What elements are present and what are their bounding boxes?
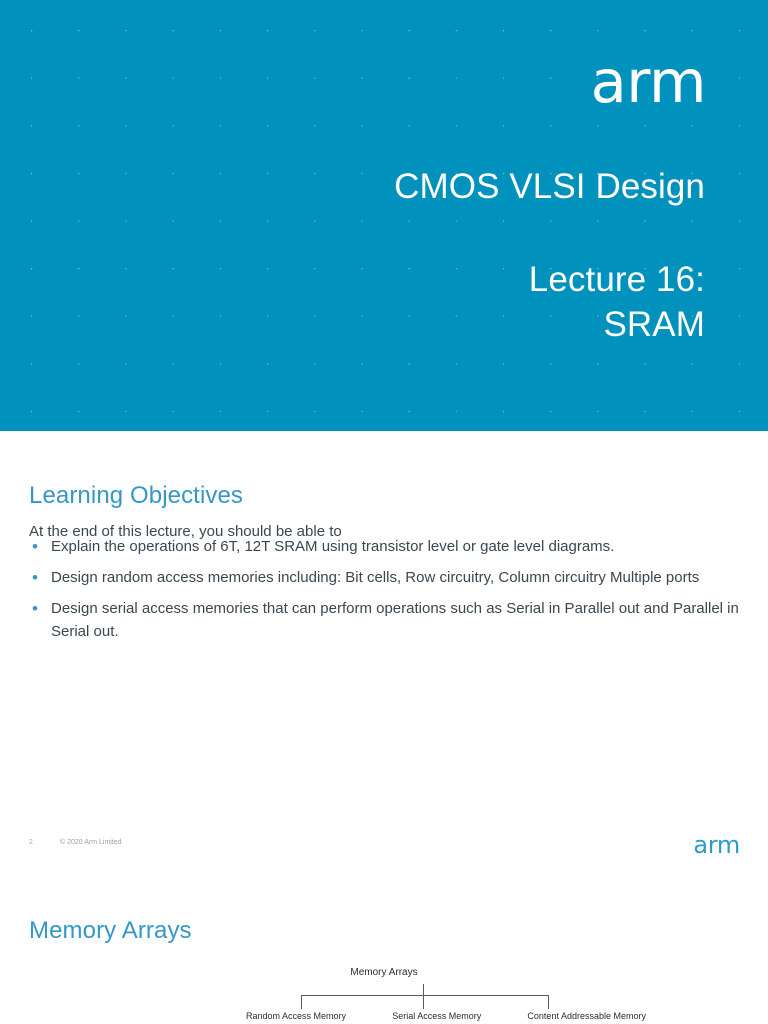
tree-branch-line-left: [301, 995, 302, 1009]
learning-objectives-slide: Learning Objectives At the end of this l…: [0, 431, 768, 879]
bullet-icon: •: [29, 566, 51, 589]
tree-branch-line-right: [548, 995, 549, 1009]
list-item: • Design random access memories includin…: [29, 566, 741, 589]
tree-leaf-content-addressable-memory: Content Addressable Memory: [527, 1011, 646, 1021]
objectives-list: • Explain the operations of 6T, 12T SRAM…: [29, 535, 741, 651]
arm-logo: arm: [693, 833, 740, 857]
lecture-number: Lecture 16:: [529, 258, 705, 303]
list-item-label: Design serial access memories that can p…: [51, 597, 741, 643]
arm-logo: arm: [591, 52, 706, 111]
tree-branch-line-middle: [423, 995, 424, 1009]
memory-arrays-tree-diagram: Memory Arrays Random Access Memory Seria…: [0, 967, 768, 1024]
page-title: Learning Objectives: [29, 482, 243, 510]
tree-leaf-labels: Random Access Memory Serial Access Memor…: [246, 1011, 646, 1021]
bullet-icon: •: [29, 535, 51, 558]
list-item: • Explain the operations of 6T, 12T SRAM…: [29, 535, 741, 558]
page-title: Memory Arrays: [29, 917, 192, 945]
list-item-label: Design random access memories including:…: [51, 566, 741, 589]
lecture-course-title: CMOS VLSI Design: [394, 168, 705, 207]
tree-root-label: Memory Arrays: [0, 967, 768, 978]
page-number: 2: [29, 839, 33, 846]
memory-arrays-slide: Memory Arrays Memory Arrays Random Acces…: [0, 879, 768, 1024]
bullet-icon: •: [29, 597, 51, 620]
lecture-topic: SRAM: [529, 303, 705, 348]
copyright-notice: © 2020 Arm Limited: [60, 839, 122, 846]
list-item: • Design serial access memories that can…: [29, 597, 741, 643]
title-slide: arm CMOS VLSI Design Lecture 16: SRAM: [0, 0, 768, 431]
list-item-label: Explain the operations of 6T, 12T SRAM u…: [51, 535, 741, 558]
tree-leaf-random-access-memory: Random Access Memory: [246, 1011, 346, 1021]
lecture-subtitle: Lecture 16: SRAM: [529, 258, 705, 348]
tree-leaf-serial-access-memory: Serial Access Memory: [392, 1011, 481, 1021]
tree-horizontal-connector: [301, 995, 548, 996]
